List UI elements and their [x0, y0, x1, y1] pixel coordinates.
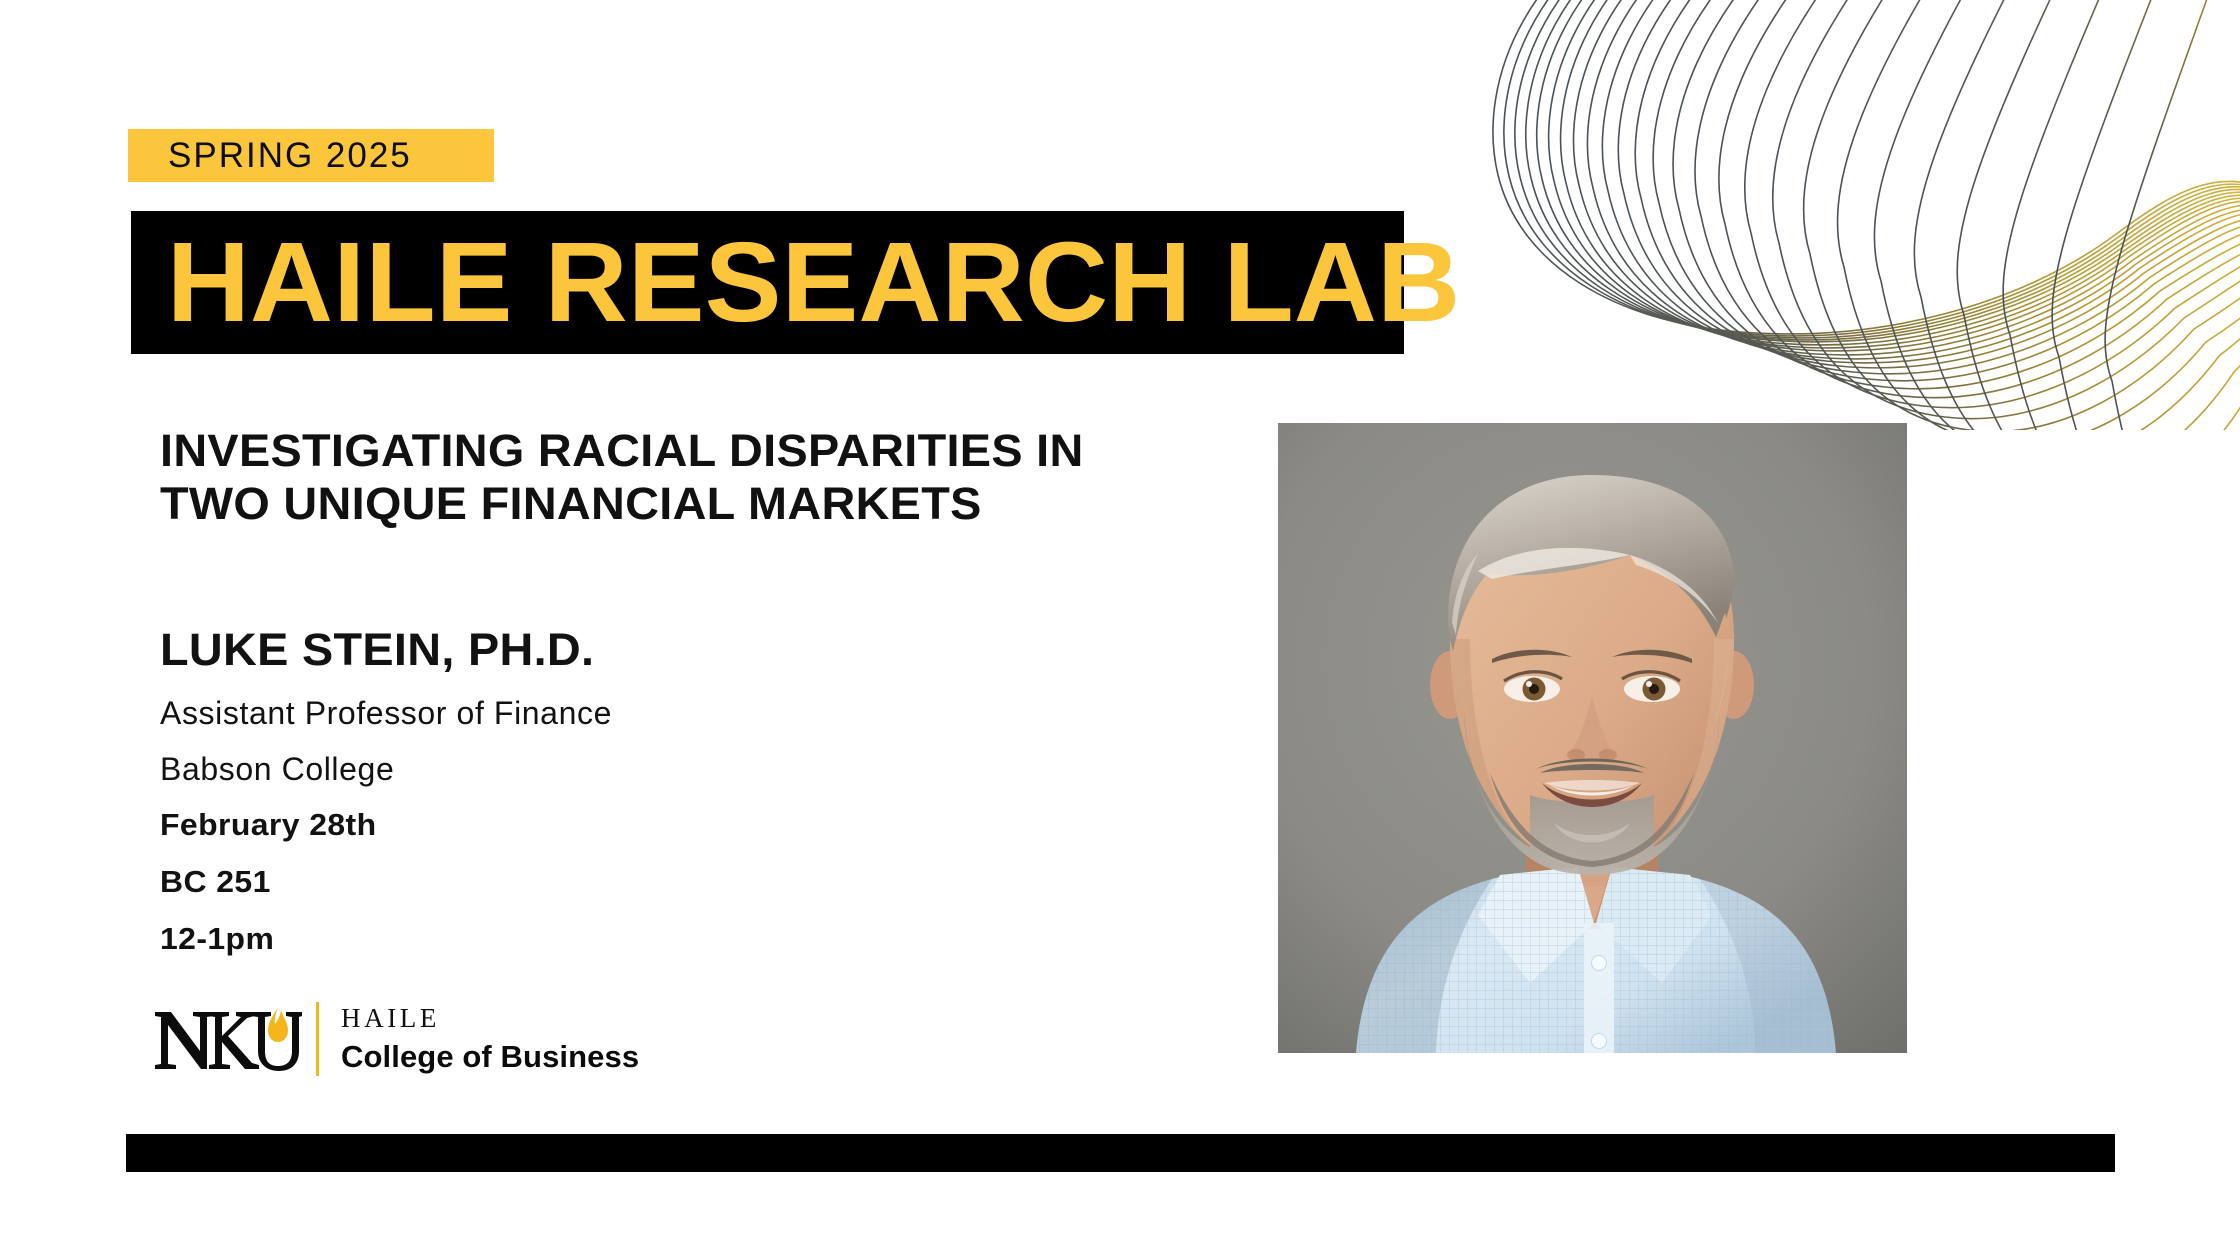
speaker-affiliation: Babson College: [160, 753, 1060, 785]
nku-wordmark: [152, 996, 302, 1082]
talk-title: INVESTIGATING RACIAL DISPARITIES IN TWO …: [160, 425, 1220, 530]
nku-haile-logo: HAILE College of Business: [152, 996, 639, 1082]
speaker-role: Assistant Professor of Finance: [160, 697, 1060, 729]
event-date: February 28th: [160, 809, 1087, 840]
talk-title-line-2: TWO UNIQUE FINANCIAL MARKETS: [160, 478, 1262, 531]
speaker-portrait: [1278, 423, 1907, 1053]
logo-unit-name: HAILE: [341, 1004, 639, 1034]
concentric-wave-lines-decoration: [1380, 0, 2240, 430]
event-location: BC 251: [160, 866, 1087, 897]
season-tag: SPRING 2025: [128, 129, 494, 182]
logo-college-name: College of Business: [341, 1039, 639, 1075]
logo-text-block: HAILE College of Business: [341, 999, 639, 1079]
flyer-canvas: SPRING 2025 HAILE RESEARCH LAB INVESTIGA…: [0, 0, 2240, 1260]
talk-title-line-1: INVESTIGATING RACIAL DISPARITIES IN: [160, 425, 1262, 478]
bottom-accent-bar: [126, 1134, 2115, 1172]
speaker-details: LUKE STEIN, PH.D. Assistant Professor of…: [160, 625, 1060, 980]
lab-title-banner: HAILE RESEARCH LAB: [131, 211, 1404, 354]
lab-title-text: HAILE RESEARCH LAB: [131, 226, 1460, 339]
logo-divider: [316, 1002, 319, 1076]
event-time: 12-1pm: [160, 923, 1087, 954]
speaker-name: LUKE STEIN, PH.D.: [160, 625, 1096, 675]
season-tag-label: SPRING 2025: [128, 136, 412, 176]
